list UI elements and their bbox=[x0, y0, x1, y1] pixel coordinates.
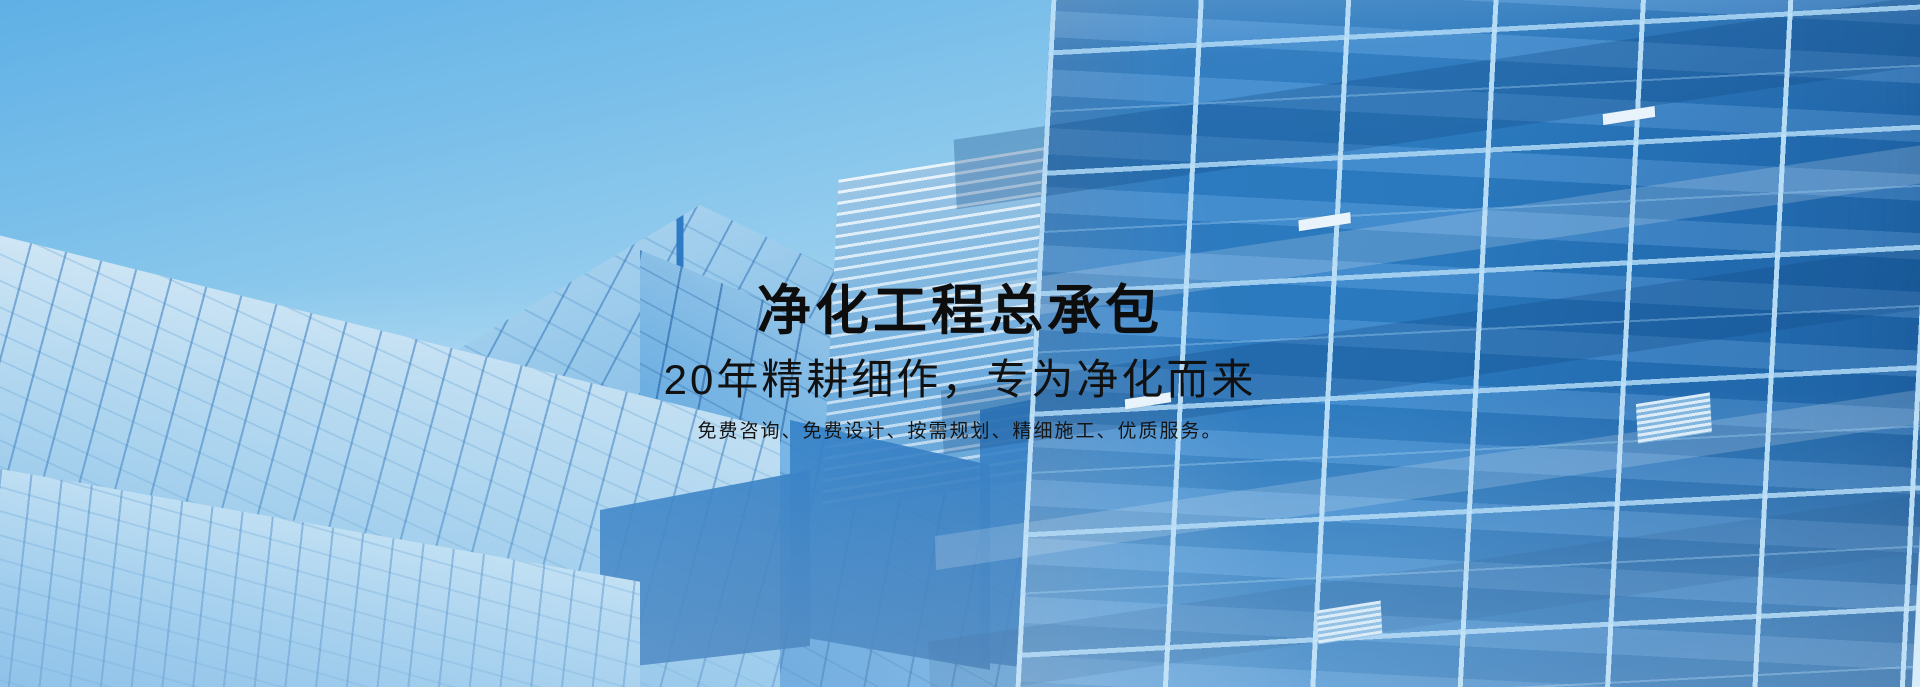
banner-copy: 净化工程总承包 20年精耕细作，专为净化而来 免费咨询、免费设计、按需规划、精细… bbox=[0, 282, 1920, 446]
banner-subheadline: 20年精耕细作，专为净化而来 bbox=[0, 352, 1920, 409]
hero-banner: 净化工程总承包 20年精耕细作，专为净化而来 免费咨询、免费设计、按需规划、精细… bbox=[0, 0, 1920, 687]
banner-tagline: 免费咨询、免费设计、按需规划、精细施工、优质服务。 bbox=[0, 419, 1920, 446]
banner-headline: 净化工程总承包 bbox=[0, 282, 1920, 340]
